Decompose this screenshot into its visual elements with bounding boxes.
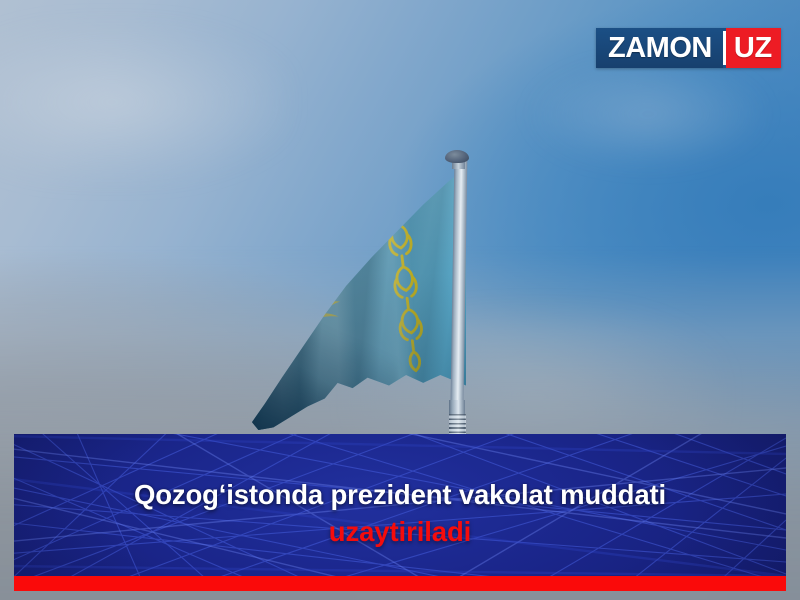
logo-accent-block: UZ [726,28,781,68]
flag-lower-shadow [252,320,398,430]
logo-accent-text: UZ [734,34,772,63]
headline-banner: Qozogʻistonda prezident vakolat muddati … [14,434,786,576]
logo-divider [723,28,726,68]
headline: Qozogʻistonda prezident vakolat muddati … [14,480,786,546]
zamon-uz-logo[interactable]: ZAMON UZ [596,28,781,68]
kazakhstan-flag-cloth [252,168,466,430]
headline-line-1: Qozogʻistonda prezident vakolat muddati [14,480,786,509]
logo-primary-block: ZAMON [596,28,723,68]
flagpole-finial-icon [445,150,469,163]
logo-primary-text: ZAMON [608,34,712,63]
news-card: ZAMON UZ [0,0,800,600]
headline-line-2: uzaytiriladi [14,517,786,546]
accent-bar [14,576,786,591]
